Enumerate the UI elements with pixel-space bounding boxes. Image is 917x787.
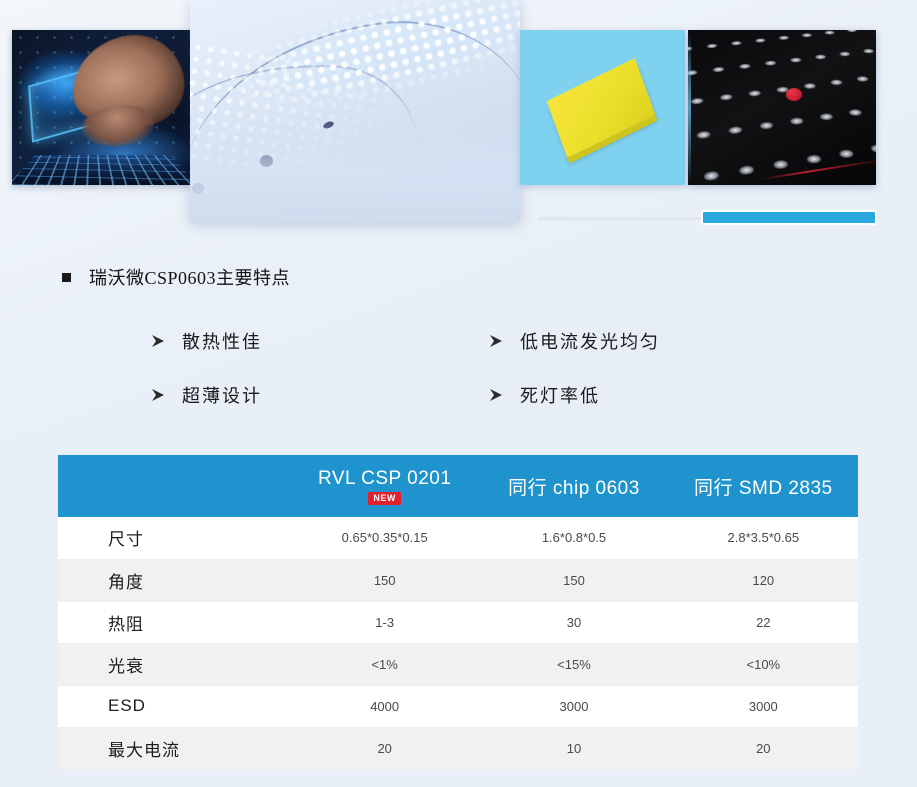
table-cell: <15% bbox=[479, 643, 668, 685]
carousel-slide-backlit-keyboard[interactable] bbox=[688, 30, 876, 185]
slide-keyboard-shape bbox=[12, 155, 192, 185]
feature-label: 散热性佳 bbox=[182, 328, 262, 354]
feature-item: 低电流发光均匀 bbox=[488, 328, 660, 354]
table-cell: 0.65*0.35*0.15 bbox=[290, 517, 479, 559]
slide-trackpoint-dot bbox=[786, 88, 802, 101]
table-cell: 1.6*0.8*0.5 bbox=[479, 517, 668, 559]
slide-haze-overlay bbox=[190, 102, 520, 222]
arrow-right-icon bbox=[150, 388, 166, 402]
slide-blue-edge bbox=[688, 30, 691, 185]
comparison-table-wrap: RVL CSP 0201 NEW 同行 chip 0603 同行 SMD 283… bbox=[58, 455, 858, 770]
table-cell: 20 bbox=[669, 727, 858, 769]
table-row: 最大电流 20 10 20 bbox=[58, 727, 858, 769]
table-row: 光衰 <1% <15% <10% bbox=[58, 643, 858, 685]
arrow-right-icon bbox=[150, 334, 166, 348]
table-cell: 10 bbox=[479, 727, 668, 769]
table-row: 热阻 1-3 30 22 bbox=[58, 601, 858, 643]
table-body: 尺寸 0.65*0.35*0.15 1.6*0.8*0.5 2.8*3.5*0.… bbox=[58, 517, 858, 769]
slide-chip-shape bbox=[547, 58, 656, 158]
arrow-right-icon bbox=[488, 334, 504, 348]
new-badge: NEW bbox=[368, 492, 401, 505]
square-bullet-icon bbox=[62, 273, 71, 282]
table-header-label: RVL CSP 0201 bbox=[318, 468, 451, 490]
feature-label: 低电流发光均匀 bbox=[520, 328, 660, 354]
table-cell: 30 bbox=[479, 601, 668, 643]
table-head: RVL CSP 0201 NEW 同行 chip 0603 同行 SMD 283… bbox=[58, 455, 858, 517]
arrow-right-icon bbox=[488, 388, 504, 402]
feature-item: 散热性佳 bbox=[150, 328, 262, 354]
table-cell: 3000 bbox=[479, 685, 668, 727]
features-section: 瑞沃微CSP0603主要特点 散热性佳 超薄设计 低电流发光均匀 死灯 bbox=[0, 250, 917, 430]
table-row: 角度 150 150 120 bbox=[58, 559, 858, 601]
table-header-cell-smd-2835: 同行 SMD 2835 bbox=[669, 455, 858, 517]
slide-key-grid bbox=[688, 30, 876, 185]
table-row: ESD 4000 3000 3000 bbox=[58, 685, 858, 727]
comparison-section: RVL CSP 0201 NEW 同行 chip 0603 同行 SMD 283… bbox=[0, 437, 917, 787]
carousel-slide-holographic-laptop-hand[interactable] bbox=[12, 30, 192, 185]
table-cell: 150 bbox=[479, 559, 668, 601]
feature-label: 超薄设计 bbox=[182, 382, 262, 408]
table-cell: 4000 bbox=[290, 685, 479, 727]
table-cell: <10% bbox=[669, 643, 858, 685]
table-header-label: 同行 chip 0603 bbox=[508, 473, 640, 500]
table-row-label: 尺寸 bbox=[58, 517, 290, 559]
table-row-label: 热阻 bbox=[58, 601, 290, 643]
table-row-label: 最大电流 bbox=[58, 727, 290, 769]
table-cell: 2.8*3.5*0.65 bbox=[669, 517, 858, 559]
table-cell: 1-3 bbox=[290, 601, 479, 643]
comparison-table: RVL CSP 0201 NEW 同行 chip 0603 同行 SMD 283… bbox=[58, 455, 858, 770]
features-heading-row: 瑞沃微CSP0603主要特点 bbox=[62, 264, 290, 290]
features-heading-text: 瑞沃微CSP0603主要特点 bbox=[89, 264, 290, 290]
table-row-label: 角度 bbox=[58, 559, 290, 601]
features-column-left: 散热性佳 超薄设计 bbox=[150, 328, 262, 436]
table-row-label: ESD bbox=[58, 685, 290, 727]
table-row-label: 光衰 bbox=[58, 643, 290, 685]
feature-item: 超薄设计 bbox=[150, 382, 262, 408]
features-column-right: 低电流发光均匀 死灯率低 bbox=[488, 328, 660, 436]
table-cell: 22 bbox=[669, 601, 858, 643]
table-header-cell-rvl-csp-0201: RVL CSP 0201 NEW bbox=[290, 455, 479, 517]
table-cell: 20 bbox=[290, 727, 479, 769]
table-header-cell-chip-0603: 同行 chip 0603 bbox=[479, 455, 668, 517]
feature-item: 死灯率低 bbox=[488, 382, 660, 408]
table-row: 尺寸 0.65*0.35*0.15 1.6*0.8*0.5 2.8*3.5*0.… bbox=[58, 517, 858, 559]
table-header-cell-spec bbox=[58, 455, 290, 517]
feature-label: 死灯率低 bbox=[520, 382, 600, 408]
table-header-row: RVL CSP 0201 NEW 同行 chip 0603 同行 SMD 283… bbox=[58, 455, 858, 517]
carousel-slide-led-ribbon-flow[interactable] bbox=[190, 0, 520, 222]
carousel-progress-fill[interactable] bbox=[703, 212, 875, 223]
table-cell: <1% bbox=[290, 643, 479, 685]
table-cell: 120 bbox=[669, 559, 858, 601]
table-cell: 3000 bbox=[669, 685, 858, 727]
table-cell: 150 bbox=[290, 559, 479, 601]
carousel-slide-yellow-led-chip[interactable] bbox=[520, 30, 685, 185]
table-header-label: 同行 SMD 2835 bbox=[694, 473, 833, 500]
